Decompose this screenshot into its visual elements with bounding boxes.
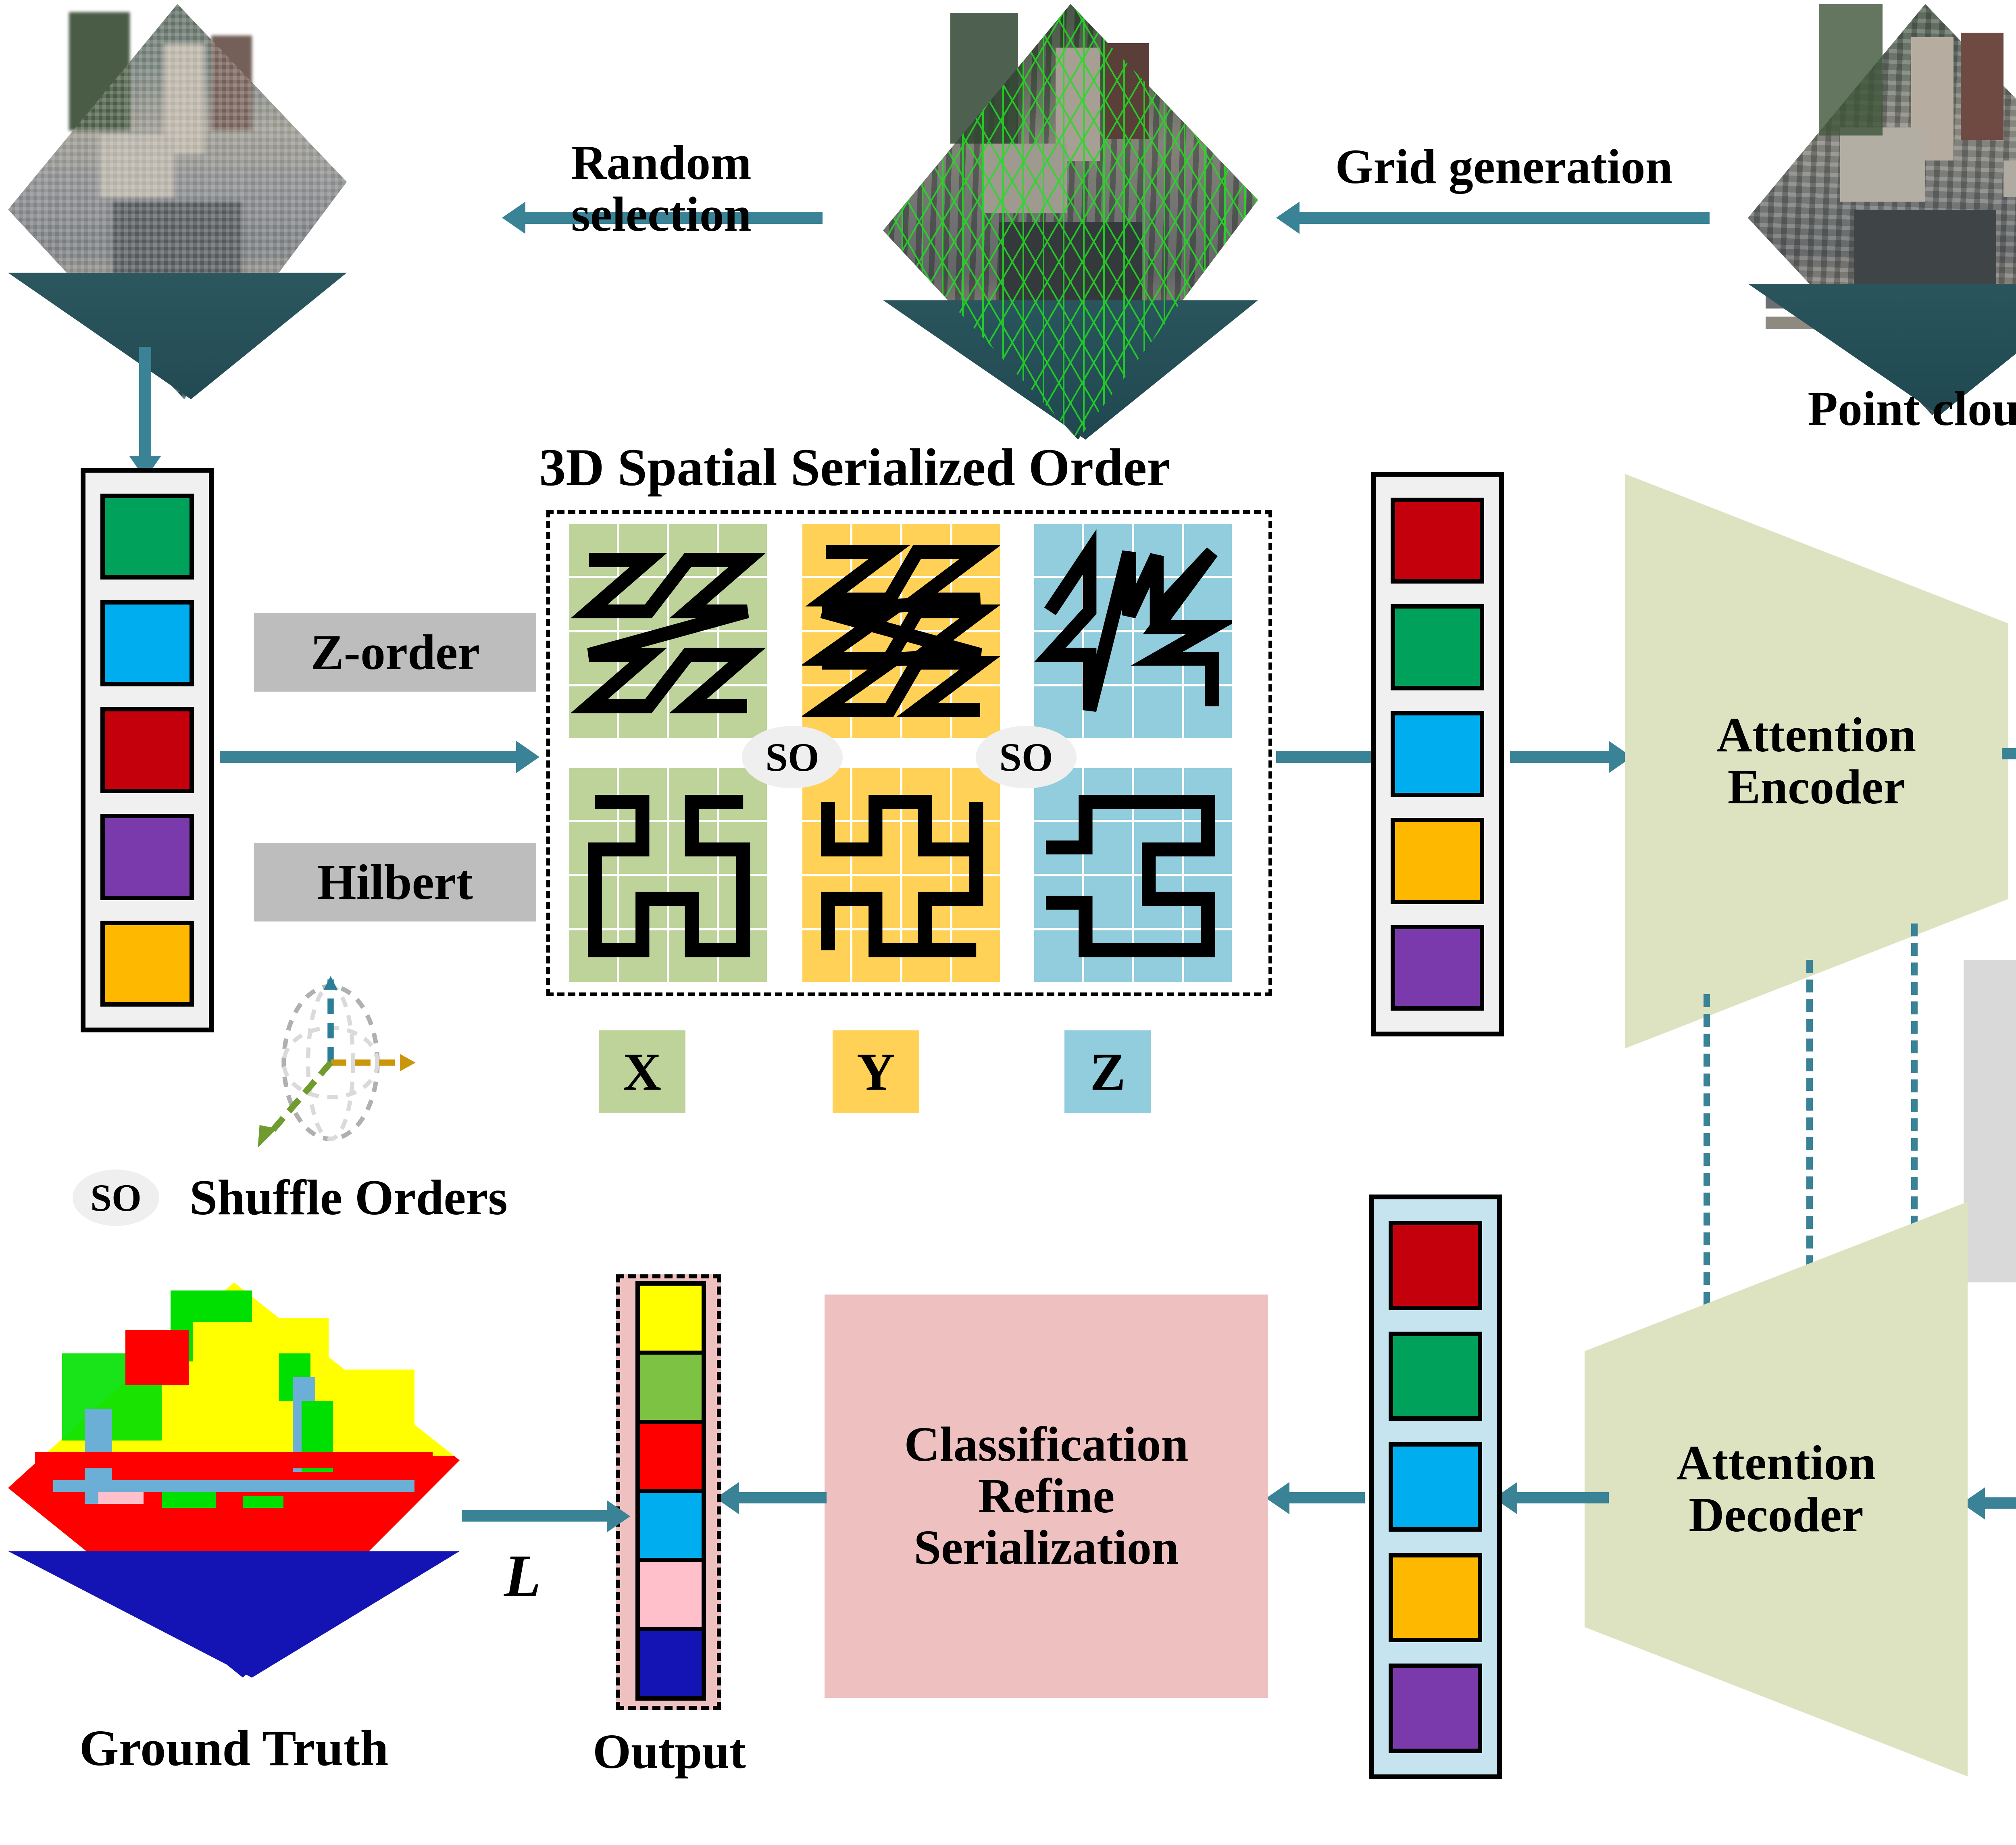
token-cell bbox=[1391, 925, 1485, 1011]
output-cell bbox=[640, 1631, 702, 1696]
serialization-panel-title: 3D Spatial Serialized Order bbox=[472, 440, 1238, 496]
shuffle-orders-badge-text: SO bbox=[999, 734, 1053, 780]
loss-arrow-head bbox=[607, 1500, 630, 1532]
point-cloud-downsampled-image bbox=[8, 4, 347, 399]
attention-encoder-label: Attention Encoder bbox=[1675, 709, 1958, 813]
z-order-text: Z-order bbox=[310, 624, 480, 681]
token-cell bbox=[1391, 604, 1485, 690]
token-strip-post-serialization bbox=[1371, 472, 1504, 1036]
token-strip-decoder-output bbox=[1369, 1195, 1502, 1779]
random-selection-label: Random selection bbox=[496, 137, 827, 240]
mamba-to-decoder-arrow-h bbox=[1984, 1497, 2016, 1509]
global-serialized-mamba-block: Global Serialized Mamba bbox=[1964, 960, 2016, 1282]
hilbert-curve-x bbox=[569, 768, 767, 982]
decoder-to-strip-arrow-line bbox=[1516, 1492, 1609, 1503]
loss-symbol: L bbox=[504, 1545, 541, 1608]
ground-truth-label: Ground Truth bbox=[12, 1722, 456, 1775]
output-cell bbox=[640, 1493, 702, 1562]
token-cell bbox=[1391, 498, 1485, 584]
axis-legend-z-label: Z bbox=[1090, 1041, 1125, 1103]
z-order-label: Z-order bbox=[254, 613, 536, 692]
output-cell bbox=[640, 1286, 702, 1355]
grid-generation-arrow-line bbox=[1298, 212, 1710, 224]
token-cell bbox=[100, 921, 194, 1007]
strip-to-classifier-arrow-head bbox=[1266, 1482, 1289, 1514]
output-strip bbox=[635, 1281, 706, 1701]
point-cloud-label: Point cloud bbox=[1730, 383, 2016, 435]
classification-refine-serialization-block: Classification Refine Serialization bbox=[825, 1295, 1268, 1698]
grid-generation-arrow-head bbox=[1276, 202, 1300, 234]
hilbert-curve-y bbox=[802, 768, 1000, 982]
shuffle-orders-badge: SO bbox=[742, 726, 843, 788]
attention-decoder-label: Attention Decoder bbox=[1635, 1437, 1917, 1541]
axis-legend-z: Z bbox=[1064, 1030, 1151, 1113]
strip-to-encoder-arrow-line bbox=[1510, 751, 1611, 763]
classification-refine-serialization-label: Classification Refine Serialization bbox=[845, 1419, 1248, 1574]
global-serialized-mamba-label: Global Serialized Mamba bbox=[2002, 1045, 2016, 1197]
token-cell bbox=[1391, 818, 1485, 904]
shuffle-orders-badge: SO bbox=[976, 726, 1077, 788]
axis-legend-y-label: Y bbox=[857, 1041, 895, 1103]
token-cell bbox=[100, 494, 194, 580]
token-cell bbox=[100, 814, 194, 900]
hilbert-curve-z bbox=[1034, 768, 1232, 982]
ground-truth-image bbox=[8, 1282, 460, 1678]
z-order-curve-y bbox=[802, 524, 1000, 738]
token-cell bbox=[1389, 1442, 1483, 1531]
token-cell bbox=[1389, 1664, 1483, 1753]
downsample-to-strip-arrow-line bbox=[139, 347, 151, 464]
shuffle-orders-legend-badge: SO bbox=[73, 1170, 159, 1226]
token-cell bbox=[1389, 1221, 1483, 1310]
axis-legend-y: Y bbox=[833, 1030, 919, 1113]
output-label: Output bbox=[532, 1726, 806, 1778]
shuffle-orders-badge-text: SO bbox=[765, 734, 819, 780]
token-cell bbox=[1389, 1553, 1483, 1642]
point-cloud-grid-image bbox=[883, 4, 1258, 440]
encoder-to-mamba-arrow-h bbox=[2002, 748, 2016, 759]
output-cell bbox=[640, 1424, 702, 1493]
attention-encoder-block: Attention Encoder bbox=[1625, 474, 2008, 1049]
token-cell bbox=[100, 707, 194, 793]
token-strip-pre-serialization bbox=[81, 468, 214, 1032]
axis-legend-x: X bbox=[599, 1030, 685, 1113]
z-order-curve-z bbox=[1034, 524, 1232, 738]
axis-legend-x-label: X bbox=[623, 1041, 661, 1103]
output-cell bbox=[640, 1562, 702, 1631]
output-cell bbox=[640, 1355, 702, 1424]
shuffle-orders-legend-badge-text: SO bbox=[90, 1176, 142, 1220]
classifier-to-output-arrow-line bbox=[738, 1492, 827, 1503]
strip-to-classifier-arrow-line bbox=[1288, 1492, 1365, 1503]
token-cell bbox=[100, 600, 194, 686]
hilbert-text: Hilbert bbox=[317, 854, 473, 911]
axis-gizmo-icon bbox=[242, 976, 419, 1149]
attention-decoder-block: Attention Decoder bbox=[1585, 1202, 1968, 1776]
loss-arrow-line bbox=[462, 1510, 611, 1522]
shuffle-orders-legend-text: Shuffle Orders bbox=[190, 1172, 508, 1224]
grid-generation-label: Grid generation bbox=[1286, 141, 1722, 193]
strip-to-panel-arrow-head bbox=[516, 741, 539, 773]
token-cell bbox=[1391, 711, 1485, 797]
token-cell bbox=[1389, 1332, 1483, 1421]
hilbert-label: Hilbert bbox=[254, 843, 536, 921]
point-cloud-original-image bbox=[1748, 4, 2016, 415]
skip-connection-dashed-1 bbox=[1704, 994, 1710, 1325]
strip-to-panel-arrow-line bbox=[220, 751, 518, 763]
z-order-curve-x bbox=[569, 524, 767, 738]
